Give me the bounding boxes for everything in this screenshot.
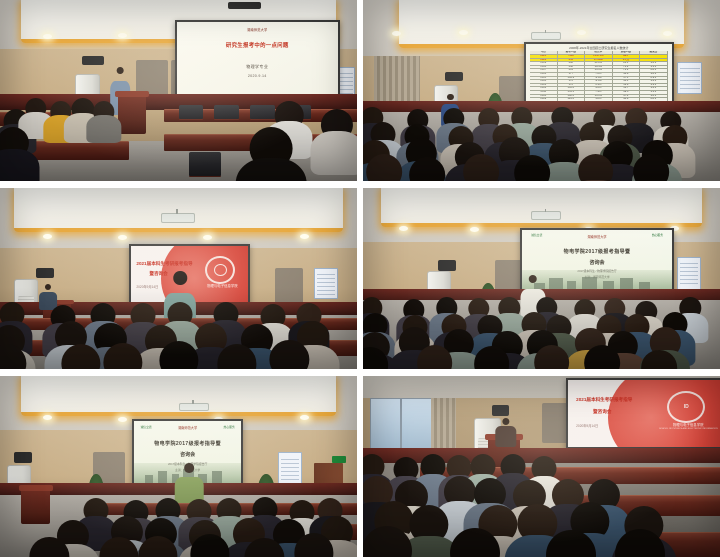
podium-top <box>19 485 53 491</box>
presenter-body <box>495 426 516 447</box>
projector <box>531 32 562 40</box>
slide-title-line1: 物电学院2017级报考指导暨 <box>154 440 221 447</box>
audience-member <box>420 454 445 479</box>
audience-member <box>159 341 198 369</box>
head <box>615 529 665 557</box>
table-header-cell: 录取人数 <box>613 51 641 54</box>
slide-date: 2020年9月14日 <box>576 423 598 428</box>
head <box>190 534 229 557</box>
audience-member <box>409 505 448 545</box>
audience-member <box>363 347 388 369</box>
head <box>138 536 177 557</box>
head <box>409 157 445 181</box>
body <box>86 115 121 142</box>
table-cell: 49.5 <box>613 91 641 94</box>
table-cell: 164.9 <box>558 77 586 80</box>
table-cell: 238 <box>558 66 586 69</box>
presenter-head <box>117 67 124 74</box>
curtain <box>431 398 456 456</box>
exit-sign <box>332 456 346 463</box>
table-cell: 81.1 <box>613 62 641 65</box>
table-cell: 72.2 <box>613 69 641 72</box>
projection-screen: 2008年-2021年全国硕士研究生报名人数统计 年份 报考人数 增长率 录取人… <box>524 42 674 106</box>
table-cell: 76.2 <box>613 66 641 69</box>
head <box>463 154 499 181</box>
table-cell: 47.4 <box>613 95 641 98</box>
table-cell: 3.0:1 <box>640 95 668 98</box>
audience-member <box>190 534 229 557</box>
head <box>363 347 388 369</box>
table-cell: 13.0% <box>585 95 613 98</box>
table-cell: 9.6% <box>585 87 613 90</box>
slide-tag-left: 诚信立德 <box>531 233 542 237</box>
table-cell: =400 <box>558 55 586 58</box>
table-cell: 44.9 <box>613 98 641 101</box>
table-caption: 2008年-2021年全国硕士研究生报名人数统计 <box>569 46 628 50</box>
table-cell: 2.8:1 <box>640 69 668 72</box>
presenter-head <box>528 275 536 283</box>
audience-member <box>574 299 595 319</box>
table-cell: 2012 <box>530 87 558 90</box>
slide-subtitle: 物理学专业 <box>246 64 268 70</box>
audience-member <box>103 343 142 369</box>
audience-member <box>534 345 570 369</box>
head <box>367 154 403 181</box>
table-cell: 2015 <box>530 77 558 80</box>
slide-red-branding: ID 物理与电子信息学院 SCHOOL OF PHYSICS AND ELECT… <box>568 380 720 447</box>
slide-tag-right: 热心服务 <box>652 233 663 237</box>
chair <box>179 105 204 119</box>
table-cell: 3.1:1 <box>640 66 668 69</box>
table-cell: 140.6 <box>558 95 586 98</box>
audience-member <box>450 528 500 557</box>
slide-title-line1: 2021届本科生考研报考指导 <box>576 397 632 403</box>
head <box>534 345 570 369</box>
table-cell: 3.2:1 <box>640 87 668 90</box>
downlight <box>392 31 401 36</box>
audience-member <box>30 537 69 557</box>
table-cell: 2018 <box>530 66 558 69</box>
ceiling-cove <box>14 188 342 232</box>
table-cell: 96.7 <box>613 55 641 58</box>
audience-member <box>250 127 293 167</box>
audience-member <box>580 122 605 146</box>
downlight <box>43 415 52 420</box>
head <box>546 530 596 557</box>
photo-panel-5: 诚信立德 热心服务 湖南师范大学 物电学院2017级报考指导暨 咨询会 2017… <box>0 376 357 557</box>
table-cell: 201 <box>558 69 586 72</box>
downlight <box>43 34 52 39</box>
table-cell: 124.6 <box>558 98 586 101</box>
audience-member <box>321 109 353 138</box>
table-cell: 172 <box>558 80 586 83</box>
head <box>363 526 412 557</box>
audience-member <box>275 101 304 126</box>
wall-speaker <box>82 56 103 65</box>
downlight <box>118 235 127 240</box>
notice-board <box>677 257 700 290</box>
downlight <box>663 31 672 36</box>
photo-panel-4: 诚信立德 热心服务 湖南师范大学 物电学院2017级报考指导暨 咨询会 2017… <box>363 188 720 369</box>
projector <box>531 211 562 219</box>
table-cell: 53.9 <box>613 84 641 87</box>
table-cell <box>640 55 668 58</box>
wall-speaker <box>14 452 32 463</box>
downlight <box>399 226 408 231</box>
audience-member <box>0 344 27 369</box>
photo-panel-1: 湖南师范大学 研究生报考中的一点问题 物理学专业 2020.9.14 <box>0 0 357 181</box>
presenter-head <box>502 418 509 425</box>
downlight <box>459 30 468 35</box>
speaker-head <box>174 271 187 284</box>
audience-member <box>578 154 614 181</box>
table-header-cell: 增长率 <box>585 51 613 54</box>
wall-speaker <box>445 72 463 81</box>
head <box>584 345 620 369</box>
notice-board <box>677 62 702 95</box>
projection-screen: ID 物理与电子信息学院 SCHOOL OF PHYSICS AND ELECT… <box>566 378 720 449</box>
table-cell <box>640 59 668 62</box>
table-cell: 2014 <box>530 80 558 83</box>
table-cell: +14.75% <box>585 55 613 58</box>
table-cell: 57.1 <box>613 77 641 80</box>
ceiling-speaker <box>228 2 260 9</box>
presenter <box>495 418 516 447</box>
notice-board <box>314 268 337 299</box>
table-cell: 13.6% <box>585 69 613 72</box>
audience-member <box>501 454 526 479</box>
chair <box>214 105 239 119</box>
table-cell: 151.1 <box>558 91 586 94</box>
head <box>270 340 309 369</box>
body <box>311 131 357 174</box>
table-body: 2021=400+14.75%96.7202034117.58%1.7万2019… <box>530 55 668 102</box>
audience-member <box>71 98 94 118</box>
table-cell: 2.9:1 <box>640 77 668 80</box>
head <box>633 154 669 181</box>
head <box>30 537 69 557</box>
downlight <box>300 234 309 239</box>
ceiling-cove <box>381 188 702 227</box>
emblem-mark: ID <box>684 404 689 410</box>
slide-title-line1: 2021届本科生考研报考指导 <box>136 261 192 267</box>
slide-statistics-table: 2008年-2021年全国硕士研究生报名人数统计 年份 报考人数 增长率 录取人… <box>526 44 672 104</box>
table-cell: 2010 <box>530 95 558 98</box>
table-cell: -3.9% <box>585 77 613 80</box>
table-cell: 3.8% <box>585 98 613 101</box>
audience-member <box>615 529 665 557</box>
table-cell: 3.3:1 <box>640 84 668 87</box>
audience-member <box>584 345 620 369</box>
statistics-table: 年份 报考人数 增长率 录取人数 报录比 2021=400+14.75%96.7… <box>530 51 668 101</box>
table-cell: 1.7万 <box>613 59 641 62</box>
head <box>578 154 614 181</box>
downlight <box>118 417 127 422</box>
head <box>474 346 510 369</box>
wall-speaker <box>438 260 456 271</box>
table-cell: 18.4% <box>585 66 613 69</box>
audience-member <box>394 457 419 482</box>
host-head <box>45 284 51 290</box>
audience-member <box>138 536 177 557</box>
head <box>0 344 27 369</box>
audience-member <box>514 155 550 181</box>
head <box>217 344 256 369</box>
lecture-room-1: 湖南师范大学 研究生报考中的一点问题 物理学专业 2020.9.14 <box>0 0 357 181</box>
slide-white: 湖南师范大学 研究生报考中的一点问题 物理学专业 2020.9.14 <box>177 22 338 94</box>
lecture-room-4: 诚信立德 热心服务 湖南师范大学 物电学院2017级报考指导暨 咨询会 2017… <box>363 188 720 369</box>
downlight <box>203 235 212 240</box>
audience-member <box>25 98 46 116</box>
head <box>294 533 333 557</box>
audience-member <box>270 340 309 369</box>
table-cell: 3.6:1 <box>640 62 668 65</box>
head <box>61 344 100 369</box>
audience-member <box>474 346 510 369</box>
slide-title: 研究生报考中的一点问题 <box>226 41 289 49</box>
head <box>641 350 677 369</box>
downlight <box>300 415 309 420</box>
college-name: 物理与电子信息学院 <box>200 283 245 288</box>
head <box>450 528 500 557</box>
curtain <box>374 56 420 103</box>
wall-speaker <box>36 268 54 279</box>
audience-member <box>99 537 138 557</box>
audience-member <box>61 344 100 369</box>
slide-title-line2: 暨咨询会 <box>593 409 611 415</box>
wall-acoustic-panel <box>275 268 304 304</box>
head <box>159 341 198 369</box>
downlight <box>577 30 586 35</box>
table-cell: 51.7 <box>613 87 641 90</box>
audience-member <box>367 154 403 181</box>
college-name-cn: 物理与电子信息学院 <box>207 284 238 288</box>
table-cell: 2019 <box>530 62 558 65</box>
audience-member <box>546 530 596 557</box>
table-header-cell: 年份 <box>530 51 558 54</box>
table-cell: 2009 <box>530 98 558 101</box>
table-cell: 7.9% <box>585 91 613 94</box>
presenter-head <box>184 463 194 473</box>
audience-member <box>0 302 24 326</box>
table-cell: 2021 <box>530 55 558 58</box>
photo-panel-6: ID 物理与电子信息学院 SCHOOL OF PHYSICS AND ELECT… <box>363 376 720 557</box>
audience-member <box>0 127 29 156</box>
audience-member <box>443 108 464 128</box>
audience-member <box>93 101 114 119</box>
audience-member <box>168 302 193 326</box>
table-cell: 341 <box>558 59 586 62</box>
audience-member <box>245 538 284 557</box>
table-cell: 58.9 <box>613 73 641 76</box>
projector <box>161 213 195 223</box>
audience-member <box>463 154 499 181</box>
photo-panel-3: 物理与电子信息学院 2021届本科生考研报考指导 暨咨询会 2020年9月14日 <box>0 188 357 369</box>
podium <box>118 91 147 134</box>
audience-member <box>633 154 669 181</box>
slide-logo-text: 湖南师范大学 <box>247 27 267 32</box>
wall-speaker <box>492 405 510 416</box>
table-cell: 2016 <box>530 73 558 76</box>
slide-title-line1: 物电学院2017级报考指导暨 <box>564 248 631 255</box>
slide-logo-text: 湖南师范大学 <box>587 234 606 239</box>
downlight <box>470 227 479 232</box>
emblem-inner-ring <box>214 264 227 276</box>
table-cell: 2013 <box>530 84 558 87</box>
slide-title-line2: 咨询会 <box>180 451 195 458</box>
audience-member <box>363 526 412 557</box>
head <box>417 345 453 369</box>
lecture-room-6: ID 物理与电子信息学院 SCHOOL OF PHYSICS AND ELECT… <box>363 376 720 557</box>
audience-member <box>131 303 156 327</box>
lecture-room-3: 物理与电子信息学院 2021届本科生考研报考指导 暨咨询会 2020年9月14日 <box>0 188 357 369</box>
slide-title-line2: 咨询会 <box>590 259 605 266</box>
table-cell: 2.8:1 <box>640 98 668 101</box>
table-header-cell: 报考人数 <box>558 51 586 54</box>
table-cell: 3.2:1 <box>640 80 668 83</box>
audience-member <box>443 476 475 509</box>
audience-member <box>213 302 238 326</box>
slide-tag-left: 诚信立德 <box>141 425 152 429</box>
audience-member <box>641 350 677 369</box>
slide-logo-text: 湖南师范大学 <box>178 425 197 430</box>
projection-screen: 湖南师范大学 研究生报考中的一点问题 物理学专业 2020.9.14 <box>175 20 340 96</box>
lecture-room-5: 诚信立德 热心服务 湖南师范大学 物电学院2017级报考指导暨 咨询会 2017… <box>0 376 357 557</box>
slide-tag-right: 热心服务 <box>224 425 235 429</box>
head <box>514 155 550 181</box>
audience-member <box>294 533 333 557</box>
lecture-room-2: 2008年-2021年全国硕士研究生报名人数统计 年份 报考人数 增长率 录取人… <box>363 0 720 181</box>
college-name: 物理与电子信息学院 SCHOOL OF PHYSICS AND ELECTRON… <box>659 422 717 430</box>
table-cell: 54.1 <box>613 80 641 83</box>
table-header-cell: 报录比 <box>640 51 668 54</box>
college-name-en: SCHOOL OF PHYSICS AND ELECTRONIC INFORMA… <box>659 428 717 430</box>
table-cell: 290 <box>558 62 586 65</box>
head <box>99 537 138 557</box>
table-cell: 165.6 <box>558 87 586 90</box>
audience-member <box>417 345 453 369</box>
table-cell: 7.0% <box>585 73 613 76</box>
table-cell: 3.1:1 <box>640 91 668 94</box>
podium-top <box>115 91 149 98</box>
presenter-head <box>447 94 453 100</box>
table-cell: 2020 <box>530 59 558 62</box>
table-cell: 176 <box>558 84 586 87</box>
audience-member <box>187 499 212 523</box>
audience-member <box>83 498 108 522</box>
audience-member <box>409 157 445 181</box>
audience-member <box>217 344 256 369</box>
table-cell: 2017 <box>530 69 558 72</box>
projector <box>179 403 210 411</box>
podium <box>21 485 50 525</box>
audience-member <box>549 139 579 168</box>
head <box>245 538 284 557</box>
downlight <box>43 234 52 239</box>
slide-date: 2020.9.14 <box>248 74 267 78</box>
audience-member <box>252 497 277 521</box>
photo-collage: 湖南师范大学 研究生报考中的一点问题 物理学专业 2020.9.14 <box>0 0 720 560</box>
chair <box>189 152 221 176</box>
table-cell: 2011 <box>530 91 558 94</box>
table-cell: 177 <box>558 73 586 76</box>
chair <box>250 105 275 119</box>
downlight <box>118 33 127 38</box>
slide-date: 2020年9月14日 <box>136 284 158 289</box>
table-cell: 3.0:1 <box>640 73 668 76</box>
table-cell: 17.58% <box>585 59 613 62</box>
table-cell: 6.3% <box>585 84 613 87</box>
table-cell: -2.0% <box>585 80 613 83</box>
head <box>103 343 142 369</box>
photo-panel-2: 2008年-2021年全国硕士研究生报名人数统计 年份 报考人数 增长率 录取人… <box>363 0 720 181</box>
table-cell: 21.8% <box>585 62 613 65</box>
college-name-cn: 物理与电子信息学院 <box>673 423 704 427</box>
window <box>370 398 433 454</box>
